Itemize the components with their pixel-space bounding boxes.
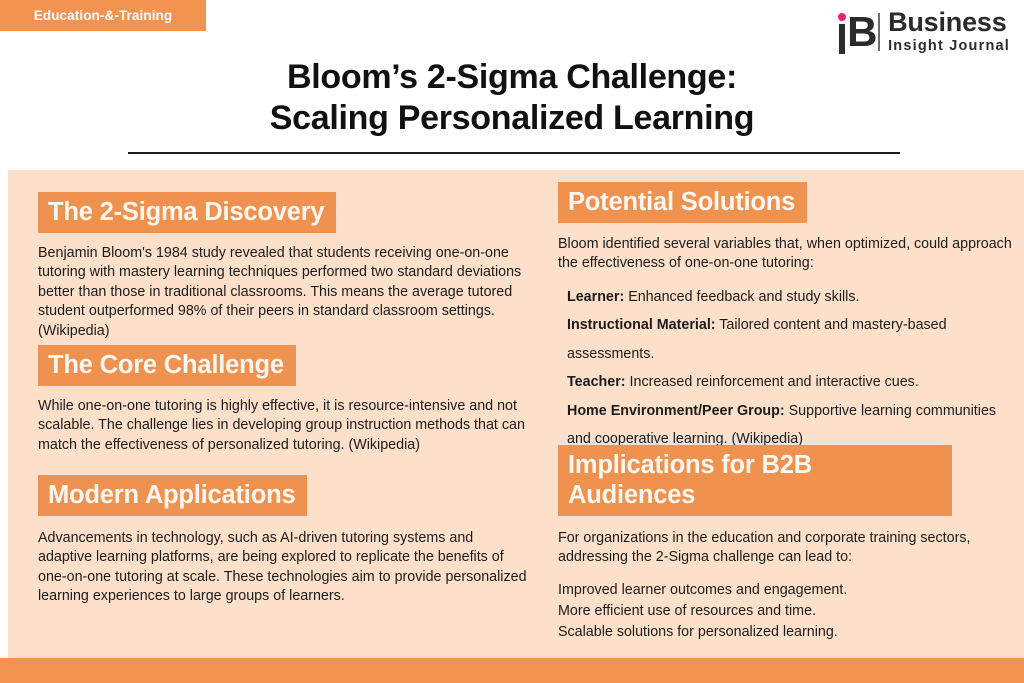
- content-panel: The 2-Sigma Discovery Benjamin Bloom's 1…: [8, 170, 1024, 658]
- section-heading-core-challenge: The Core Challenge: [38, 345, 296, 386]
- brand-i-stem-icon: [839, 24, 845, 54]
- infographic-page: Education-&-Training B Business Insight …: [0, 0, 1024, 683]
- category-badge: Education-&-Training: [0, 0, 206, 31]
- brand-divider: [878, 13, 880, 51]
- section-potential-solutions: Potential Solutions Bloom identified sev…: [558, 182, 1020, 454]
- brand-logo: B Business Insight Journal: [837, 9, 1010, 55]
- section-body-core-challenge: While one-on-one tutoring is highly effe…: [38, 397, 530, 455]
- brand-text: Business Insight Journal: [888, 9, 1010, 55]
- footer-bar: [0, 658, 1024, 683]
- list-item: Instructional Material: Tailored content…: [558, 311, 1016, 368]
- implications-lead: For organizations in the education and c…: [558, 529, 1024, 568]
- page-title-line-2: Scaling Personalized Learning: [0, 98, 1024, 139]
- section-body-two-sigma-discovery: Benjamin Bloom's 1984 study revealed tha…: [38, 244, 524, 341]
- section-core-challenge: The Core Challenge While one-on-one tuto…: [38, 345, 533, 455]
- list-item: Improved learner outcomes and engagement…: [558, 580, 1020, 601]
- potential-solutions-lead: Bloom identified several variables that,…: [558, 235, 1013, 274]
- list-item-text: Enhanced feedback and study skills.: [624, 289, 859, 305]
- list-item-label: Teacher:: [567, 374, 626, 390]
- section-heading-two-sigma-discovery: The 2-Sigma Discovery: [38, 192, 336, 233]
- implications-list: Improved learner outcomes and engagement…: [558, 580, 1020, 643]
- brand-dot-icon: [838, 13, 846, 21]
- brand-b-letter: B: [847, 11, 877, 53]
- brand-tagline: Insight Journal: [888, 38, 1010, 55]
- page-title-line-1: Bloom’s 2-Sigma Challenge:: [0, 57, 1024, 98]
- section-heading-modern-applications: Modern Applications: [38, 475, 307, 516]
- section-heading-implications-b2b: Implications for B2B Audiences: [558, 445, 952, 516]
- section-heading-implications-line-2: Audiences: [568, 481, 695, 509]
- brand-mark-icon: B: [837, 10, 871, 54]
- category-badge-label: Education-&-Training: [34, 8, 173, 23]
- list-item: More efficient use of resources and time…: [558, 601, 1020, 622]
- list-item-label: Home Environment/Peer Group:: [567, 403, 785, 419]
- list-item: Teacher: Increased reinforcement and int…: [558, 368, 1016, 397]
- section-modern-applications: Modern Applications Advancements in tech…: [38, 475, 538, 607]
- section-two-sigma-discovery: The 2-Sigma Discovery Benjamin Bloom's 1…: [38, 192, 533, 341]
- page-title: Bloom’s 2-Sigma Challenge: Scaling Perso…: [0, 57, 1024, 139]
- section-heading-implications-line-1: Implications for B2B: [568, 451, 812, 479]
- section-implications-b2b: Implications for B2B Audiences For organ…: [558, 445, 1020, 643]
- list-item-label: Learner:: [567, 289, 624, 305]
- title-divider: [128, 152, 900, 154]
- list-item-label: Instructional Material:: [567, 317, 716, 333]
- section-body-modern-applications: Advancements in technology, such as AI-d…: [38, 529, 528, 607]
- section-heading-potential-solutions: Potential Solutions: [558, 182, 807, 223]
- list-item-text: Increased reinforcement and interactive …: [626, 374, 919, 390]
- list-item: Scalable solutions for personalized lear…: [558, 622, 1020, 643]
- potential-solutions-list: Learner: Enhanced feedback and study ski…: [558, 283, 1016, 454]
- brand-name: Business: [888, 9, 1010, 36]
- list-item: Learner: Enhanced feedback and study ski…: [558, 283, 1016, 312]
